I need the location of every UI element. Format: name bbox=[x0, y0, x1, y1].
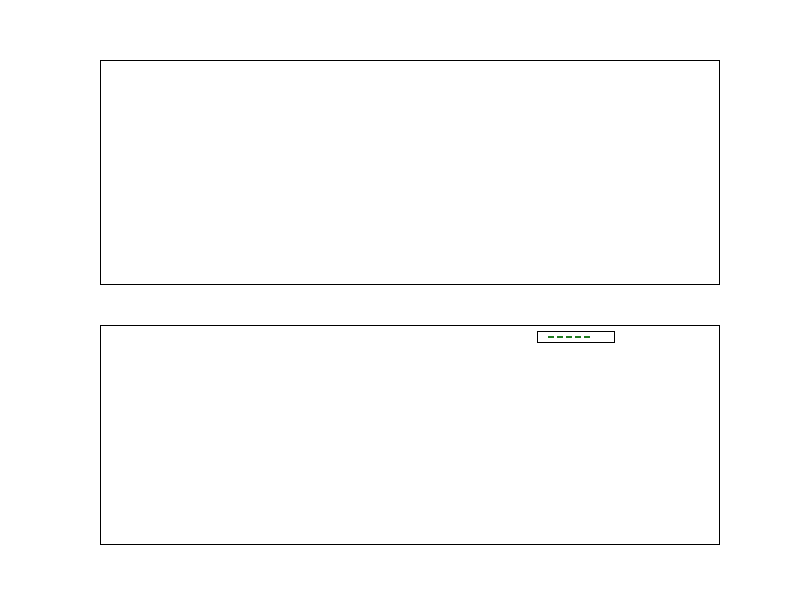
differential-plot-area bbox=[101, 61, 719, 284]
differential-histogram-axes bbox=[100, 60, 720, 285]
cumulative-histogram-axes bbox=[100, 325, 720, 545]
legend[interactable] bbox=[537, 331, 615, 343]
cumulative-plot-area bbox=[101, 326, 719, 544]
figure-canvas bbox=[0, 0, 800, 600]
mag-limit-line-swatch bbox=[548, 336, 590, 338]
